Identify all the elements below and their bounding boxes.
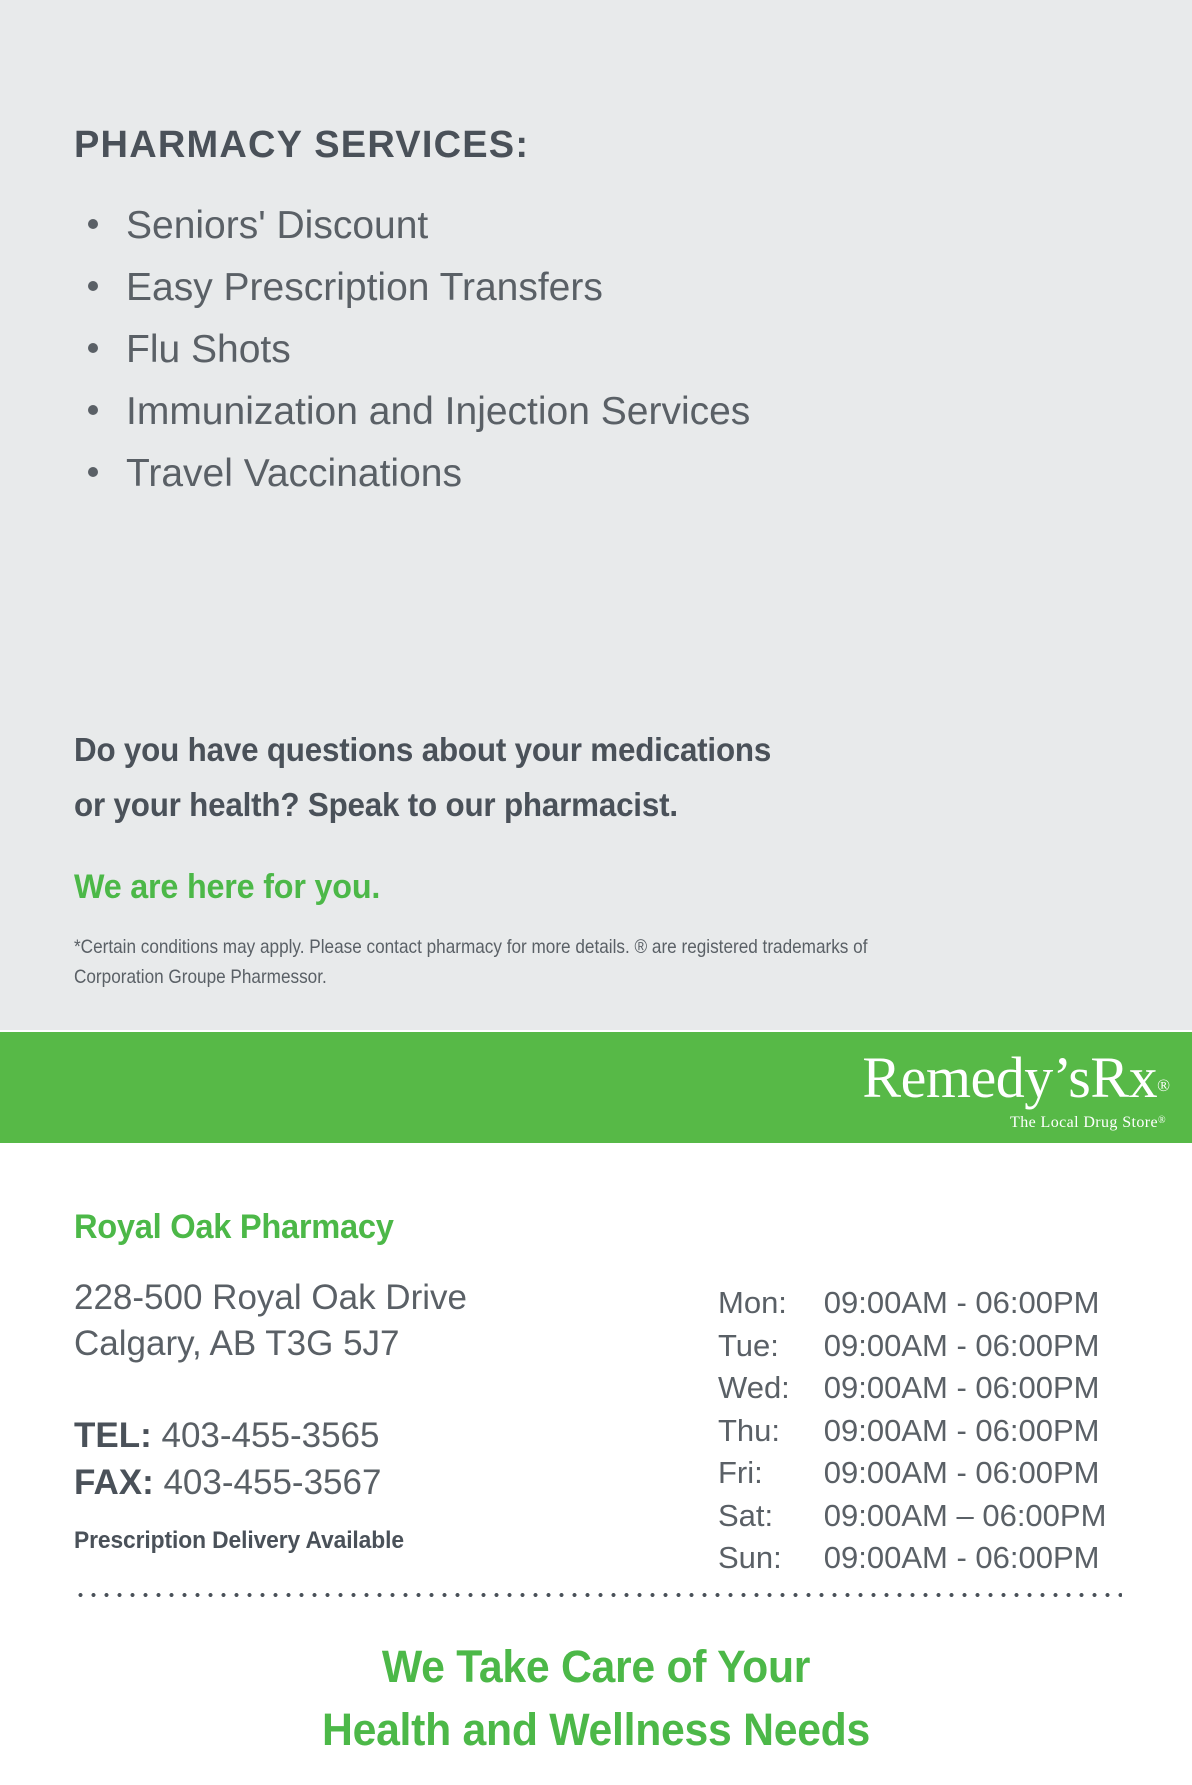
question-line-2: or your health? Speak to our pharmacist. [74,777,771,832]
fax-label: FAX: [74,1463,154,1502]
here-for-you-cta: We are here for you. [74,868,380,907]
footer-tagline-line-2: Health and Wellness Needs [30,1698,1162,1761]
list-item: Flu Shots [74,319,750,381]
bullet-icon [88,281,98,291]
hours-day: Sun: [718,1537,824,1580]
hours-time: 09:00AM – 06:00PM [824,1495,1107,1538]
store-hours-table: Mon: 09:00AM - 06:00PM Tue: 09:00AM - 06… [718,1282,1106,1580]
table-row: Fri: 09:00AM - 06:00PM [718,1452,1106,1495]
table-row: Wed: 09:00AM - 06:00PM [718,1367,1106,1410]
telephone-value: 403-455-3565 [162,1416,380,1455]
logo-wordmark: Remedy’sRx® [862,1048,1170,1116]
page-title: PHARMACY SERVICES: [74,124,529,167]
address-line-2: Calgary, AB T3G 5J7 [74,1321,467,1367]
service-label: Immunization and Injection Services [126,381,750,443]
hours-day: Tue: [718,1325,824,1368]
list-item: Easy Prescription Transfers [74,257,750,319]
hours-time: 09:00AM - 06:00PM [824,1410,1107,1453]
hours-day: Mon: [718,1282,824,1325]
brand-banner: Remedy’sRx® The Local Drug Store® [0,1032,1192,1143]
dotted-divider [74,1592,1122,1598]
table-row: Sun: 09:00AM - 06:00PM [718,1537,1106,1580]
hours-day: Thu: [718,1410,824,1453]
list-item: Seniors' Discount [74,195,750,257]
list-item: Immunization and Injection Services [74,381,750,443]
hours-time: 09:00AM - 06:00PM [824,1282,1107,1325]
telephone-row: TEL: 403-455-3565 [74,1412,381,1459]
list-item: Travel Vaccinations [74,443,750,505]
table-row: Tue: 09:00AM - 06:00PM [718,1325,1106,1368]
registered-trademark-icon: ® [1157,1076,1170,1095]
bullet-icon [88,219,98,229]
service-label: Easy Prescription Transfers [126,257,603,319]
table-row: Thu: 09:00AM - 06:00PM [718,1410,1106,1453]
telephone-label: TEL: [74,1416,152,1455]
hours-day: Sat: [718,1495,824,1538]
fax-value: 403-455-3567 [163,1463,381,1502]
logo-tagline-text: The Local Drug Store [1010,1114,1158,1131]
hours-time: 09:00AM - 06:00PM [824,1367,1107,1410]
address-block: 228-500 Royal Oak Drive Calgary, AB T3G … [74,1275,467,1367]
hours-day: Fri: [718,1452,824,1495]
hours-time: 09:00AM - 06:00PM [824,1452,1107,1495]
hours-time: 09:00AM - 06:00PM [824,1325,1107,1368]
service-label: Seniors' Discount [126,195,428,257]
hours-day: Wed: [718,1367,824,1410]
delivery-note: Prescription Delivery Available [74,1527,404,1555]
bullet-icon [88,405,98,415]
contact-block: TEL: 403-455-3565 FAX: 403-455-3567 [74,1412,381,1506]
bullet-icon [88,467,98,477]
registered-trademark-small-icon: ® [1158,1115,1166,1126]
question-line-1: Do you have questions about your medicat… [74,722,771,777]
services-list: Seniors' Discount Easy Prescription Tran… [74,195,750,505]
services-panel: PHARMACY SERVICES: Seniors' Discount Eas… [0,0,1192,1030]
bullet-icon [88,343,98,353]
disclaimer-text: *Certain conditions may apply. Please co… [74,932,954,992]
footer-tagline: We Take Care of Your Health and Wellness… [0,1635,1192,1761]
service-label: Flu Shots [126,319,291,381]
service-label: Travel Vaccinations [126,443,462,505]
pharmacist-question: Do you have questions about your medicat… [74,722,771,832]
hours-time: 09:00AM - 06:00PM [824,1537,1107,1580]
remedysrx-logo: Remedy’sRx® The Local Drug Store® [862,1048,1170,1132]
table-row: Mon: 09:00AM - 06:00PM [718,1282,1106,1325]
footer-tagline-line-1: We Take Care of Your [30,1635,1162,1698]
address-line-1: 228-500 Royal Oak Drive [74,1275,467,1321]
fax-row: FAX: 403-455-3567 [74,1459,381,1506]
pharmacy-name: Royal Oak Pharmacy [74,1208,394,1247]
logo-wordmark-text: Remedy’sRx [862,1045,1157,1110]
table-row: Sat: 09:00AM – 06:00PM [718,1495,1106,1538]
